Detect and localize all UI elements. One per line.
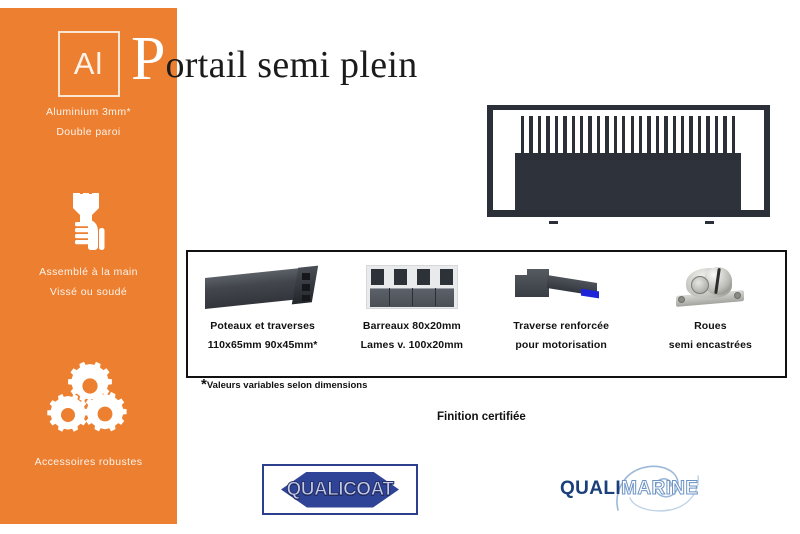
gate-bar (639, 116, 642, 156)
page-title-rest: ortail semi plein (165, 46, 417, 84)
qualimarine-text-secondary: MARINE (621, 478, 698, 499)
gate-bar (715, 116, 718, 156)
gate-bar (732, 116, 735, 156)
sidebar-feature-aluminium-line2: Double paroi (0, 122, 177, 142)
qualimarine-text: QUALIMARINE (560, 478, 698, 500)
gate-bar (597, 116, 600, 156)
gate-bar (521, 116, 524, 156)
aluminium-profile-icon (188, 259, 337, 315)
qualicoat-text: QUALICOAT (264, 479, 416, 501)
gate-bar (572, 116, 575, 156)
gate-bar (605, 116, 608, 156)
wheel-bearing-icon (636, 259, 785, 315)
gate-bar (614, 116, 617, 156)
feature-cell-traverse-line1: Traverse renforcée (513, 318, 609, 334)
gate-bars (521, 110, 735, 158)
gate-right-post (764, 105, 770, 217)
feature-cell-poteaux-line2: 110x65mm 90x45mm* (208, 337, 318, 353)
gate-bar (588, 116, 591, 156)
footnote-text: Valeurs variables selon dimensions (207, 380, 368, 391)
gate-bottom-rail (487, 210, 770, 217)
feature-cell-poteaux-line1: Poteaux et traverses (210, 318, 315, 334)
feature-cell-roues-line2: semi encastrées (669, 337, 752, 353)
barreaux-slats-icon (337, 259, 486, 315)
qualimarine-text-primary: QUALI (560, 478, 621, 499)
gate-mid-rail (515, 153, 741, 160)
feature-box: Poteaux et traverses 110x65mm 90x45mm* B… (186, 250, 787, 378)
gate-bar (580, 116, 583, 156)
gate-bar (681, 116, 684, 156)
gate-left-post (487, 105, 493, 217)
feature-cell-barreaux: Barreaux 80x20mm Lames v. 100x20mm (337, 252, 486, 376)
gate-bar (563, 116, 566, 156)
sidebar-feature-accessories: Accessoires robustes (0, 346, 177, 472)
feature-cell-traverse-line2: pour motorisation (515, 337, 607, 353)
gate-foot-right (705, 221, 714, 224)
sidebar-feature-assembly-line2: Vissé ou soudé (0, 282, 177, 302)
gate-bar (647, 116, 650, 156)
gate-bar (664, 116, 667, 156)
reinforced-crossbar-icon (487, 259, 636, 315)
gate-bar (689, 116, 692, 156)
gate-bar (698, 116, 701, 156)
sidebar-feature-accessories-line1: Accessoires robustes (0, 452, 177, 472)
page-title: Portail semi plein (131, 26, 418, 84)
gate-bar (538, 116, 541, 156)
gate-bar (622, 116, 625, 156)
al-box-label: Al (58, 31, 120, 97)
footnote: *Valeurs variables selon dimensions (201, 380, 367, 391)
feature-cell-poteaux: Poteaux et traverses 110x65mm 90x45mm* (188, 252, 337, 376)
gears-icon (0, 346, 177, 452)
feature-cell-roues-line1: Roues (694, 318, 727, 334)
gate-solid-panel (515, 160, 741, 210)
page-title-initial: P (131, 28, 165, 90)
product-spec-sheet: Al Aluminium 3mm* Double paroi (0, 0, 800, 534)
gate-foot-left (549, 221, 558, 224)
wrench-hand-icon (0, 186, 177, 262)
sidebar-feature-assembly-line1: Assemblé à la main (0, 262, 177, 282)
feature-cell-barreaux-line1: Barreaux 80x20mm (363, 318, 461, 334)
gate-bar (529, 116, 532, 156)
gate-bar (656, 116, 659, 156)
gate-bar (723, 116, 726, 156)
qualicoat-logo: QUALICOAT (262, 464, 418, 515)
gate-bar (555, 116, 558, 156)
sidebar-feature-assembly: Assemblé à la main Vissé ou soudé (0, 186, 177, 302)
gate-bar (706, 116, 709, 156)
finition-certifiee-label: Finition certifiée (437, 411, 526, 423)
gate-bar (673, 116, 676, 156)
feature-cell-barreaux-line2: Lames v. 100x20mm (361, 337, 464, 353)
sidebar-feature-aluminium-line1: Aluminium 3mm* (0, 102, 177, 122)
qualimarine-logo: QUALIMARINE (560, 460, 735, 515)
gate-bar (631, 116, 634, 156)
feature-cell-roues: Roues semi encastrées (636, 252, 785, 376)
feature-cell-traverse: Traverse renforcée pour motorisation (487, 252, 636, 376)
semi-solid-gate-illustration (487, 105, 770, 220)
gate-bar (546, 116, 549, 156)
